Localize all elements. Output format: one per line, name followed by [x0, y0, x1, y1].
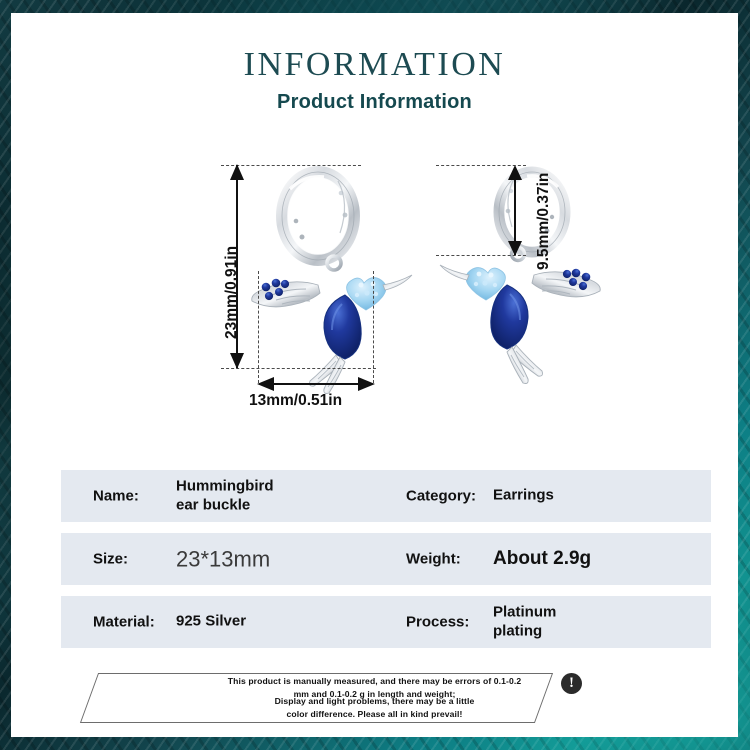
dim-height-label: 23mm/0.91in [223, 246, 241, 339]
exclamation-circle-icon: ! [561, 673, 582, 694]
table-row: Name: Hummingbird ear buckle Category: E… [61, 470, 711, 522]
disclaimer-block: This product is manually measured, and t… [11, 665, 738, 737]
page-title: INFORMATION [11, 46, 738, 84]
spec-label-size: Size: [93, 551, 128, 568]
guide-width-right-dashed [373, 271, 374, 383]
product-diagram: 23mm/0.91in 13mm/0.51in 9.5mm/0.37in [161, 143, 611, 433]
spec-label-process: Process: [406, 614, 469, 631]
spec-value-material: 925 Silver [176, 613, 246, 632]
spec-label-category: Category: [406, 488, 476, 505]
spec-table: Name: Hummingbird ear buckle Category: E… [61, 470, 711, 659]
spec-value-name: Hummingbird ear buckle [176, 477, 274, 515]
spec-label-material: Material: [93, 614, 155, 631]
spec-value-weight: About 2.9g [493, 547, 591, 571]
page-subtitle: Product Information [11, 91, 738, 114]
right-earring-illustration [404, 155, 604, 405]
guide-width-left-dashed [258, 271, 259, 383]
hoop-arrow-heads [507, 165, 523, 265]
table-row: Material: 925 Silver Process: Platinum p… [61, 596, 711, 648]
disclaimer-line-3: Display and light problems, there may be… [11, 696, 738, 706]
width-arrow-heads [257, 376, 382, 392]
spec-value-size: 23*13mm [176, 545, 270, 573]
disclaimer-line-1: This product is manually measured, and t… [11, 676, 738, 686]
dim-hoop-label: 9.5mm/0.37in [535, 173, 553, 270]
table-row: Size: 23*13mm Weight: About 2.9g [61, 533, 711, 585]
spec-label-weight: Weight: [406, 551, 461, 568]
disclaimer-line-4: color difference. Please all in kind pre… [11, 709, 738, 719]
dim-width-label: 13mm/0.51in [249, 392, 342, 410]
spec-value-category: Earrings [493, 487, 554, 506]
information-card: INFORMATION Product Information [11, 13, 738, 737]
spec-value-process: Platinum plating [493, 603, 556, 641]
spec-label-name: Name: [93, 488, 139, 505]
